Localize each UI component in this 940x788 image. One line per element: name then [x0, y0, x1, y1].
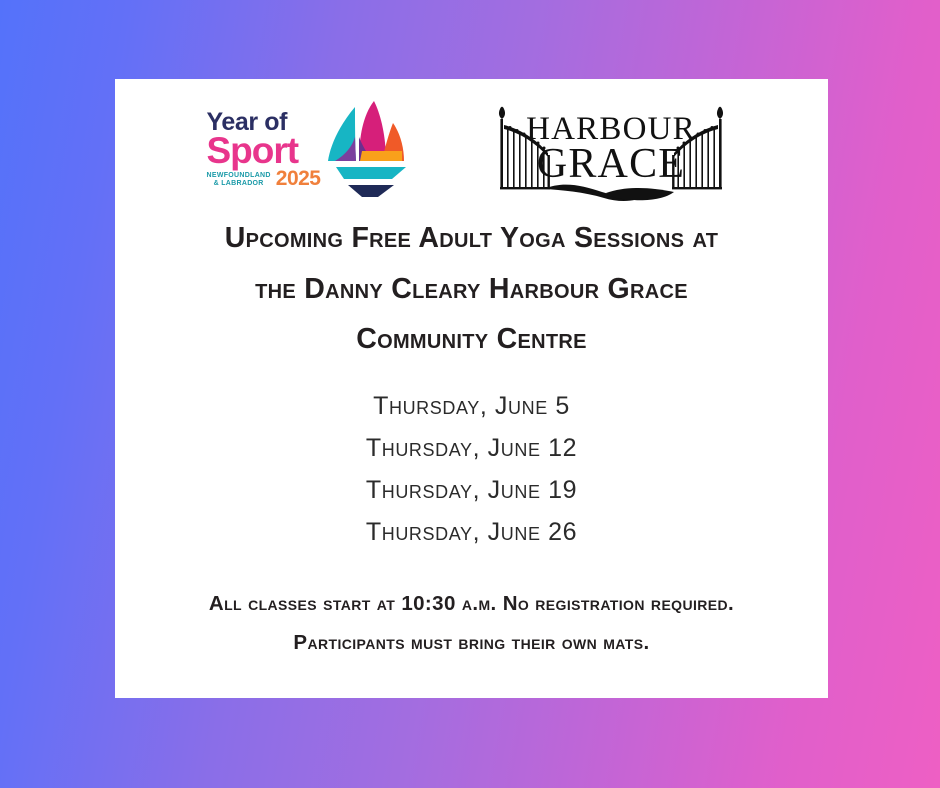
headline-line-3: Community Centre	[142, 314, 802, 365]
poster-card: Year of Sport NEWFOUNDLAND & LABRADOR 20…	[115, 79, 828, 698]
harbour-grace-logo: HARBOUR GRACE	[486, 93, 736, 205]
note-line-2: Participants must bring their own mats.	[122, 624, 822, 663]
sailboat-icon	[322, 97, 414, 201]
headline-line-2: the Danny Cleary Harbour Grace	[142, 264, 802, 315]
province-line1: NEWFOUNDLAND	[207, 172, 271, 180]
logo-row: Year of Sport NEWFOUNDLAND & LABRADOR 20…	[115, 79, 828, 209]
session-date-list: Thursday, June 5 Thursday, June 12 Thurs…	[366, 385, 577, 553]
page-title: Upcoming Free Adult Yoga Sessions at the…	[142, 213, 802, 365]
year-of-sport-logo: Year of Sport NEWFOUNDLAND & LABRADOR 20…	[207, 97, 415, 201]
province-label: NEWFOUNDLAND & LABRADOR	[207, 172, 271, 188]
harbour-grace-line2: GRACE	[537, 141, 685, 187]
wave-icon	[544, 185, 674, 201]
note-line-1: All classes start at 10:30 a.m. No regis…	[122, 585, 822, 624]
list-item: Thursday, June 12	[366, 427, 577, 469]
year-number: 2025	[276, 170, 321, 188]
headline-line-1: Upcoming Free Adult Yoga Sessions at	[142, 213, 802, 264]
list-item: Thursday, June 5	[366, 385, 577, 427]
year-of-sport-subline: NEWFOUNDLAND & LABRADOR 2025	[207, 170, 321, 188]
list-item: Thursday, June 26	[366, 511, 577, 553]
year-of-sport-line2: Sport	[207, 132, 299, 169]
province-line2: & LABRADOR	[214, 180, 264, 188]
list-item: Thursday, June 19	[366, 469, 577, 511]
year-of-sport-wordmark: Year of Sport NEWFOUNDLAND & LABRADOR 20…	[207, 110, 321, 188]
session-notes: All classes start at 10:30 a.m. No regis…	[122, 585, 822, 663]
